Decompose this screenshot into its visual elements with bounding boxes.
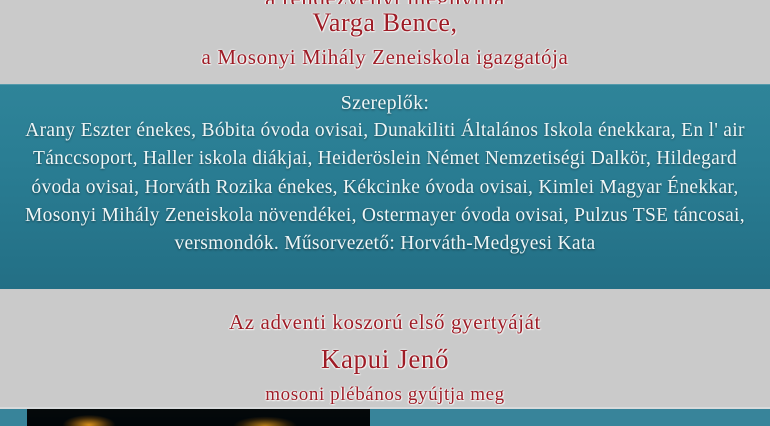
advent-section: Az adventi koszorú első gyertyáját Kapui… xyxy=(0,289,770,409)
cast-section: Szereplők: Arany Eszter énekes, Bóbita ó… xyxy=(0,84,770,289)
cast-list: Arany Eszter énekes, Bóbita óvoda ovisai… xyxy=(22,117,748,258)
intro-clipped-line: a rendezvényt megnyitja xyxy=(0,0,770,4)
advent-wreath-line: Az adventi koszorú első gyertyáját xyxy=(0,309,770,335)
cast-heading: Szereplők: xyxy=(0,91,770,115)
poster-canvas: a rendezvényt megnyitja Varga Bence, a M… xyxy=(0,0,770,426)
candle-photo-strip xyxy=(27,409,370,426)
priest-name: Kapui Jenő xyxy=(0,342,770,376)
top-intro-section: a rendezvényt megnyitja Varga Bence, a M… xyxy=(0,0,770,84)
priest-role: mosoni plébános gyújtja meg xyxy=(0,383,770,407)
host-name: Varga Bence, xyxy=(0,7,770,39)
host-title: a Mosonyi Mihály Zeneiskola igazgatója xyxy=(0,44,770,70)
